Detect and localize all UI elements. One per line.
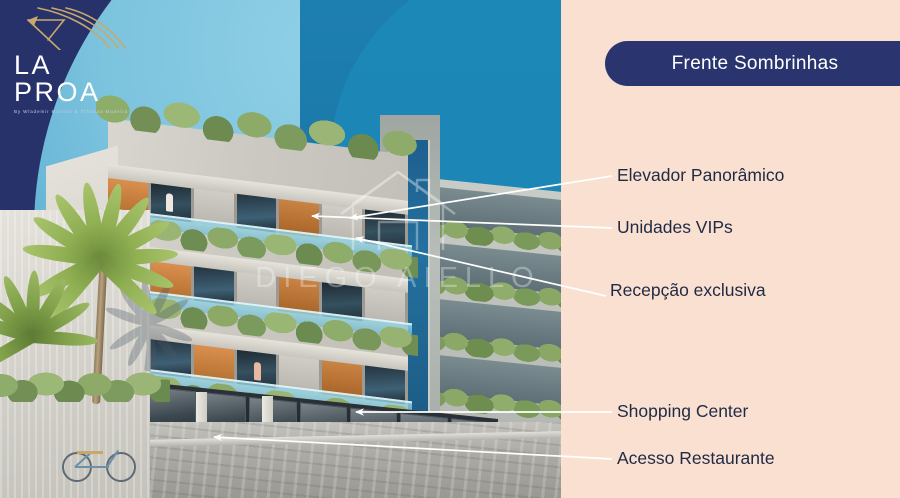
callout-label-shopping: Shopping Center xyxy=(617,401,748,422)
callout-label-elevador: Elevador Panorâmico xyxy=(617,165,784,186)
brand-logo: La PROA By Wlademir Martins & Tchezza Ma… xyxy=(14,6,144,86)
callout-label-recepcao: Recepção exclusiva xyxy=(610,280,766,301)
building-right-wing xyxy=(420,177,561,448)
callout-label-vips: Unidades VIPs xyxy=(617,217,733,238)
slide-canvas: La PROA By Wlademir Martins & Tchezza Ma… xyxy=(0,0,900,498)
bicycle xyxy=(62,446,136,482)
logo-tagline: By Wlademir Martins & Tchezza Madeira xyxy=(14,109,144,114)
logo-wordmark: La PROA xyxy=(14,52,144,106)
info-panel: Frente Sombrinhas xyxy=(561,0,900,498)
callout-label-restaurante: Acesso Restaurante xyxy=(617,448,775,469)
wall-hedge xyxy=(0,372,170,402)
project-render-image: La PROA By Wlademir Martins & Tchezza Ma… xyxy=(0,0,561,498)
prow-swoosh-icon xyxy=(14,6,134,50)
balcony-person xyxy=(254,362,261,381)
page-title: Frente Sombrinhas xyxy=(605,41,900,86)
